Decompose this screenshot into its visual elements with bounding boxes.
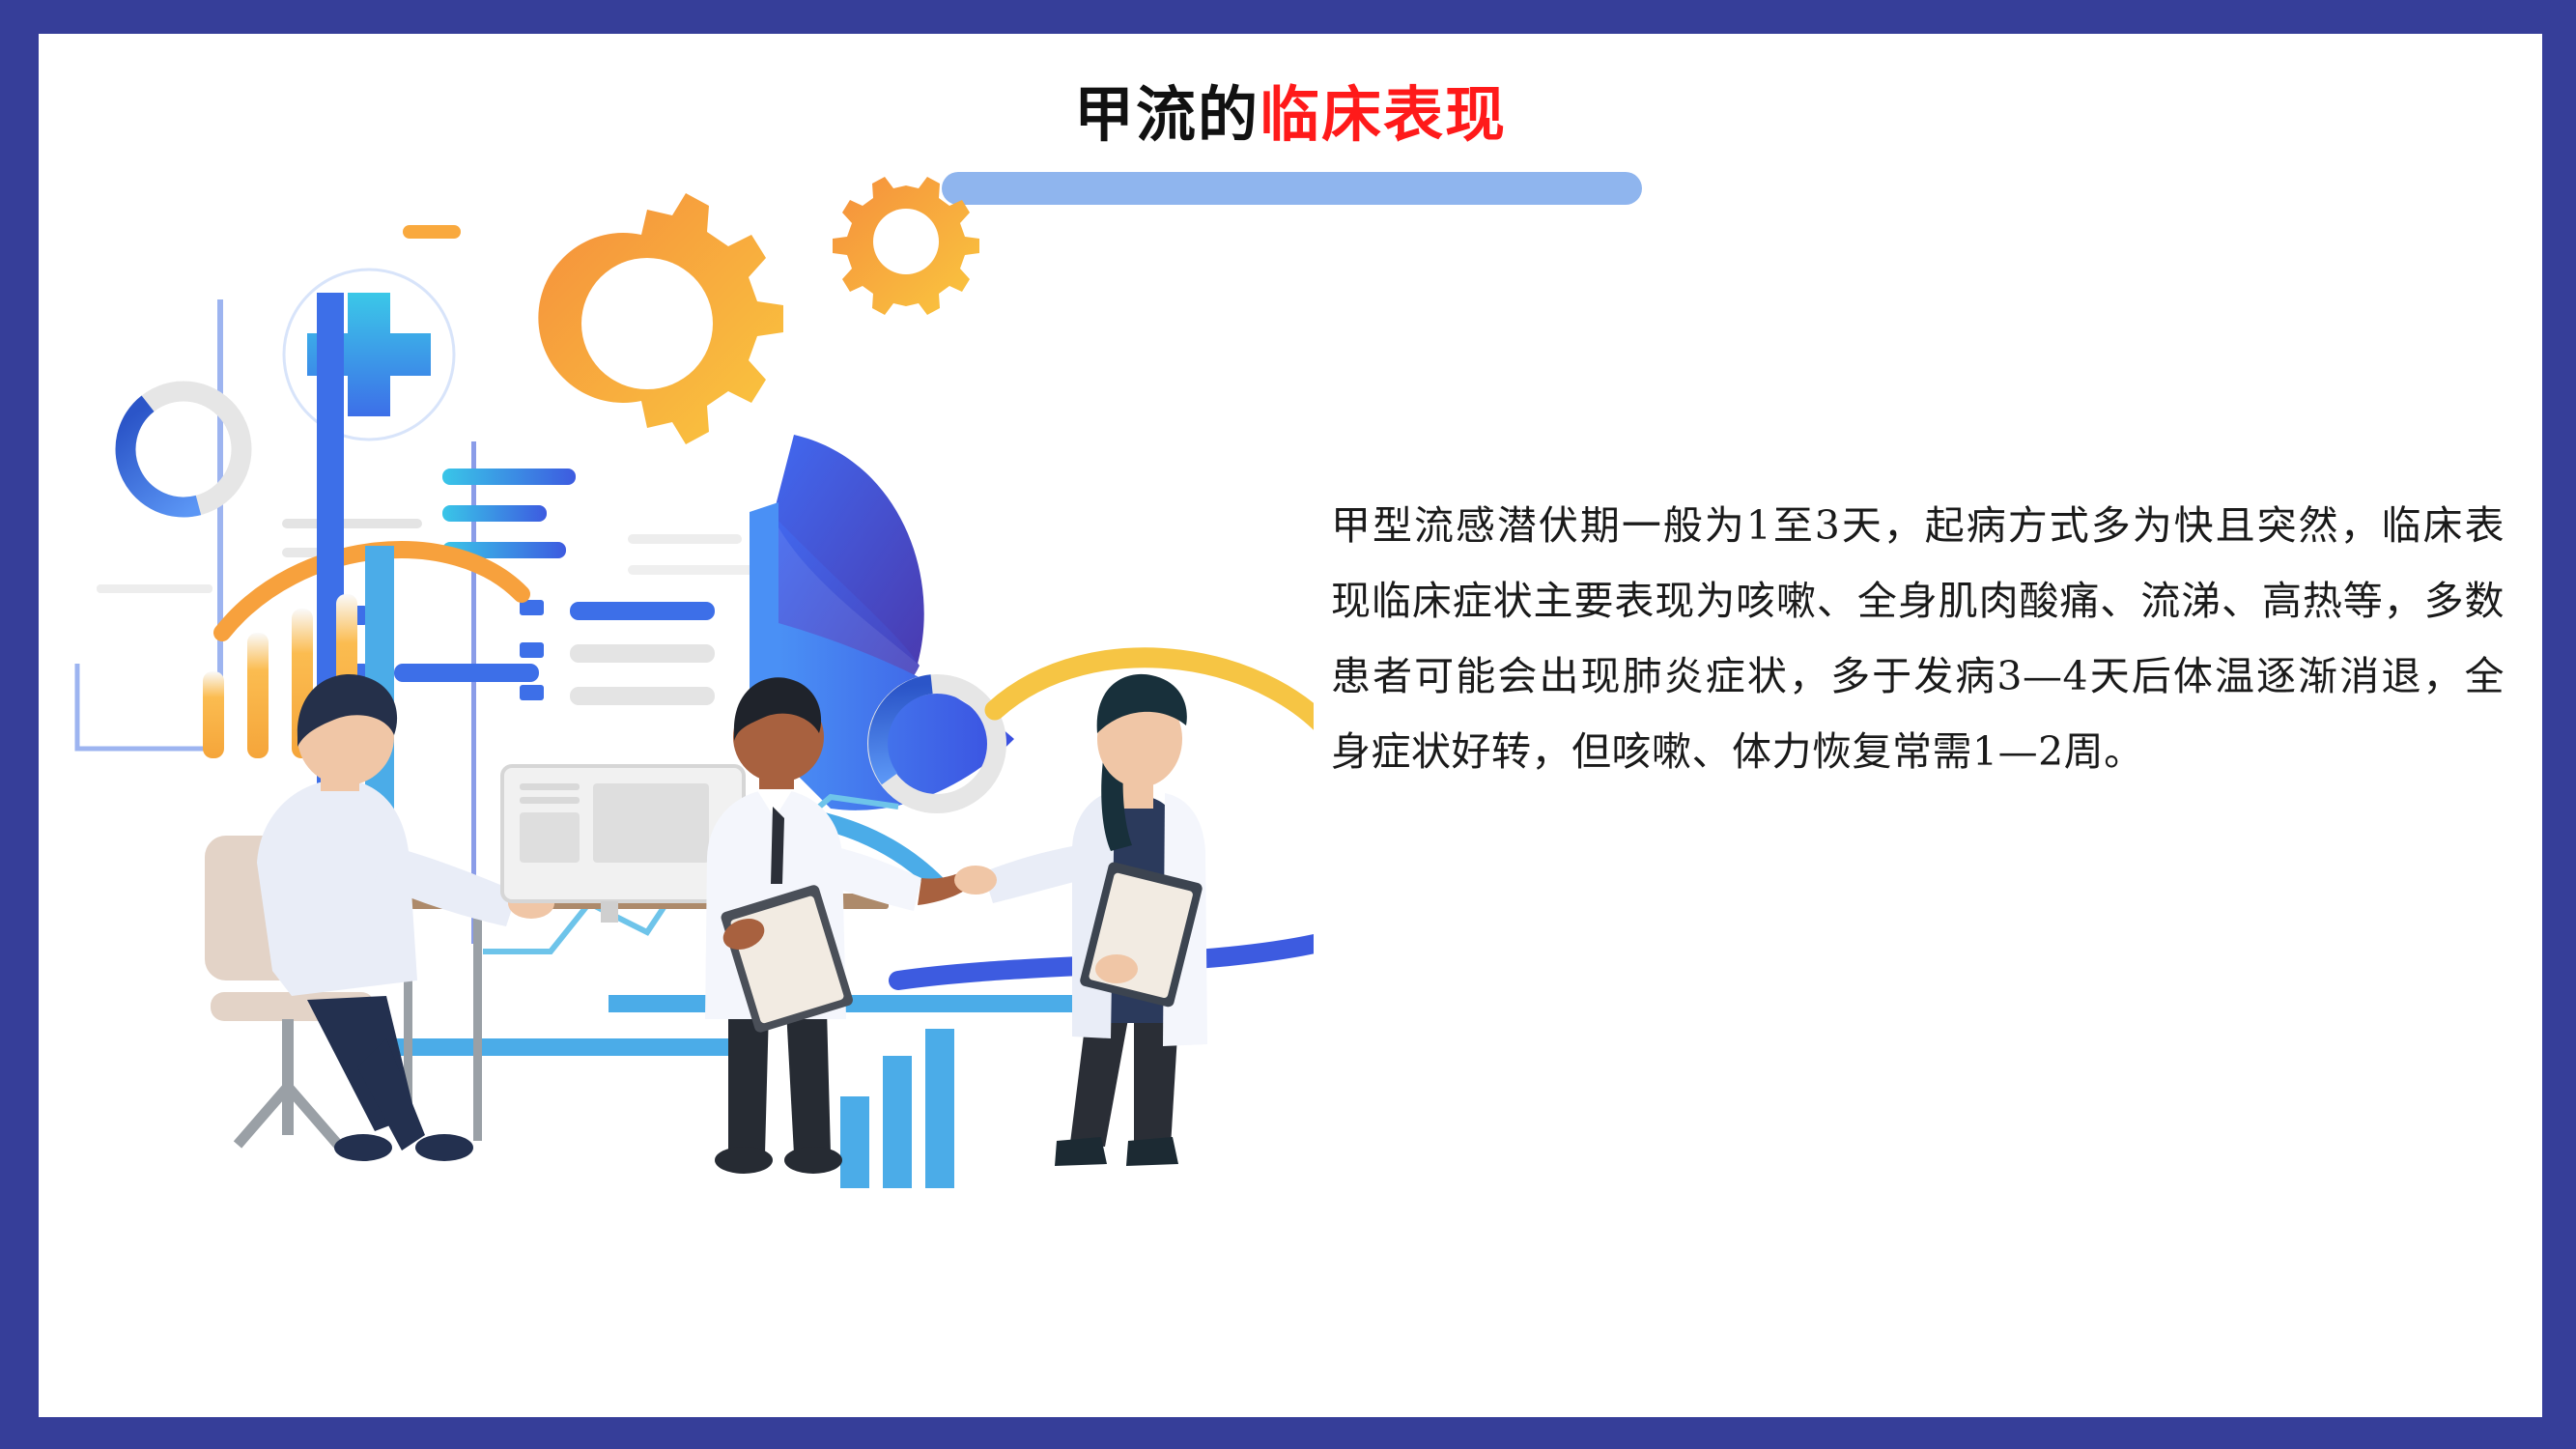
- list-markers: [348, 600, 715, 705]
- bar-chart-blue: [840, 1029, 954, 1188]
- slide-content-area: 甲流的临床表现 甲型流感潜伏期一般为1至3天，起病方式多为快且突然，临床表现临床…: [39, 34, 2542, 1417]
- title-segment-black: 甲流的: [1074, 79, 1260, 150]
- title-text: 甲流的临床表现: [39, 85, 2542, 145]
- medical-cross: [284, 270, 454, 440]
- gradient-list-bars: [442, 469, 576, 558]
- gear-large: [538, 193, 783, 444]
- title-segment-red: 临床表现: [1260, 79, 1507, 150]
- gear-small: [833, 177, 979, 315]
- orange-dash: [403, 225, 461, 239]
- body-paragraph: 甲型流感潜伏期一般为1至3天，起病方式多为快且突然，临床表现临床症状主要表现为咳…: [1331, 488, 2505, 789]
- slide-canvas: 甲流的临床表现 甲型流感潜伏期一般为1至3天，起病方式多为快且突然，临床表现临床…: [0, 0, 2576, 1449]
- medical-analytics-illustration: [68, 169, 1314, 1232]
